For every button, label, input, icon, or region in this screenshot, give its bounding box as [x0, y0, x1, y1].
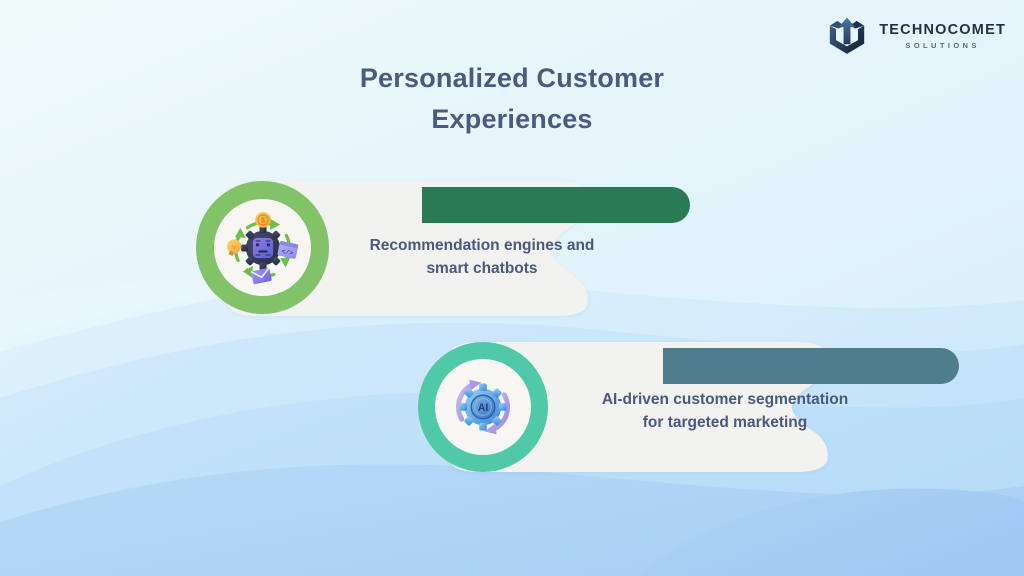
card-icon-ring: $ </> [196, 181, 329, 314]
feature-card-recommendation-engines[interactable]: Recommendation engines and smart chatbot… [196, 181, 596, 316]
page-title-line-2: Experiences [0, 99, 1024, 140]
card-icon-ring: AI [418, 342, 548, 472]
card-text: AI-driven customer segmentation for targ… [600, 388, 850, 435]
brand-name: TECHNOCOMET [879, 23, 1006, 38]
card-icon-well: AI [435, 359, 531, 455]
card-text: Recommendation engines and smart chatbot… [362, 234, 602, 281]
brand-tagline: SOLUTIONS [905, 42, 979, 50]
card-accent-bar [422, 187, 690, 223]
svg-text:$: $ [261, 217, 265, 224]
svg-text:AI: AI [478, 402, 489, 414]
slide-canvas: TECHNOCOMET SOLUTIONS Personalized Custo… [0, 0, 1024, 576]
technocomet-cube-arrow-logo-icon [825, 14, 869, 58]
ai-gear-recommendation-cycle-icon: $ </> [224, 209, 302, 287]
brand-logo: TECHNOCOMET SOLUTIONS [825, 14, 1006, 58]
ai-gear-refresh-icon: AI [445, 369, 521, 445]
card-accent-bar [663, 348, 959, 384]
page-title-line-1: Personalized Customer [0, 58, 1024, 99]
card-icon-well: $ </> [214, 199, 311, 296]
page-title: Personalized Customer Experiences [0, 58, 1024, 139]
feature-card-ai-driven-segmentation[interactable]: AI-driven customer segmentation for targ… [418, 342, 836, 472]
